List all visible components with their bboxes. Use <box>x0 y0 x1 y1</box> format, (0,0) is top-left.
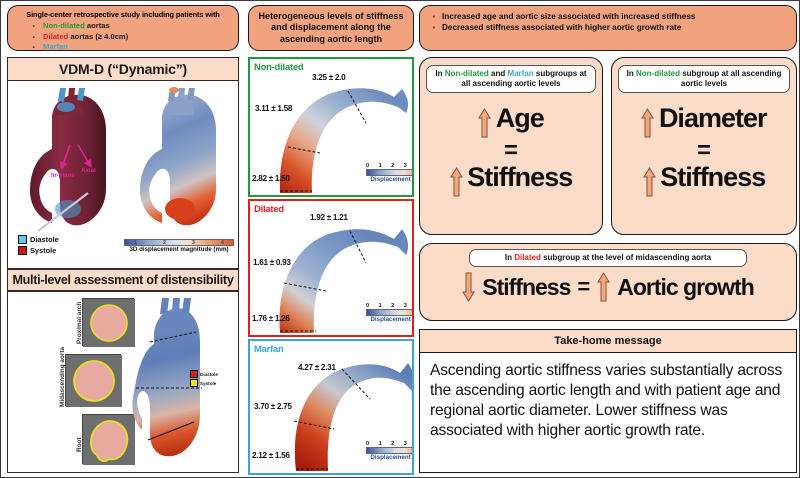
legend-item-diastole: Diastole <box>18 235 59 244</box>
study-description-box: Single-center retrospective study includ… <box>7 5 239 51</box>
relation-diameter-bottom-word: Stiffness <box>660 162 765 192</box>
colorbar-gradient-marfan <box>366 447 414 454</box>
cap-grow-pre: In <box>505 253 514 262</box>
tick-d-1: 1 <box>379 303 382 309</box>
study-group-nondilated: Non-dilated aortas <box>43 21 233 32</box>
relation-caption-age: In Non-dilated and Marfan subgroups at a… <box>426 65 596 93</box>
relation-age-bottom-row: Stiffness <box>420 162 602 197</box>
arrow-up-icon-age-top <box>478 108 491 138</box>
cap-grow-group-a: Dilated <box>514 253 541 262</box>
study-group-list: Non-dilated aortas Dilated aortas (≥ 4.0… <box>43 21 233 53</box>
vdm-d-panel: VDM-D (“Dynamic”) In-plane Axial <box>7 57 239 269</box>
cap-dia-pre: In <box>627 69 636 78</box>
study-group-dilated: Dilated aortas (≥ 4.0cm) <box>43 32 233 43</box>
measurement-dilated-0: 1.92 ± 1.21 <box>310 213 348 222</box>
legend-item-systole-ml: Systole <box>190 379 218 387</box>
legend-item-systole: Systole <box>18 246 59 255</box>
arrow-annotations <box>48 143 108 173</box>
vdm-colorbar: 1 2 3 4 3D displacement magnitude (mm) <box>124 239 234 253</box>
colorbar-gradient-dilated <box>366 309 414 316</box>
group-label-marfan: Marfan <box>43 42 68 51</box>
group-label-nondilated: Non-dilated <box>43 21 85 30</box>
middle-column-header: Heterogeneous levels of stiffness and di… <box>248 5 414 51</box>
relation-caption-growth: In Dilated subgroup at the level of mida… <box>469 249 747 267</box>
group-rest-nondilated: aortas <box>85 21 110 30</box>
panel-marfan: Marfan 4.27 ± 2.31 3.70 ± 2.75 2.12 ± 1.… <box>248 339 414 475</box>
arrow-up-icon-diameter-bottom <box>643 167 656 197</box>
arrow-down-icon-growth-left <box>462 272 475 302</box>
measurement-dilated-1: 1.61 ± 0.93 <box>253 258 291 267</box>
ct-root <box>82 414 134 464</box>
colorbar-marfan: 0 1 2 3 4 5 Displacement (mm) <box>366 441 414 461</box>
measurement-nondilated-0: 3.25 ± 2.0 <box>312 73 345 82</box>
panel-title-dilated: Dilated <box>254 203 284 214</box>
level-label-root: Root <box>76 437 83 452</box>
panel-title-marfan: Marfan <box>254 343 284 354</box>
measurement-nondilated-1: 3.11 ± 1.58 <box>255 104 292 113</box>
measurement-nondilated-2: 2.82 ± 1.50 <box>252 174 290 183</box>
tick-d-3: 3 <box>404 303 407 309</box>
cap-age-mid: and <box>489 69 508 78</box>
relation-diameter-top-word: Diameter <box>659 103 767 133</box>
panel-dilated: Dilated 1.92 ± 1.21 1.61 ± 0.93 1.76 ± 1… <box>248 199 414 337</box>
tick-n-0: 0 <box>366 163 369 169</box>
cap-age-pre: In <box>435 69 444 78</box>
relation-growth-right-word: Aortic growth <box>617 274 754 301</box>
relation-growth-row: Stiffness = Aortic growth <box>420 272 796 302</box>
colorbar-caption-nondilated: Displacement (mm) <box>366 176 414 183</box>
arrow-up-icon-growth-right <box>597 272 610 302</box>
relation-box-diameter: In Non-dilated subgroup at all ascending… <box>611 57 797 235</box>
cap-age-group-b: Marfan <box>507 69 533 78</box>
swatch-systole-icon <box>18 246 27 255</box>
diastole-systole-legend: Diastole Systole <box>18 235 59 257</box>
take-home-header: Take-home message <box>420 330 796 353</box>
level-label-proximal-arch: Proximal arch <box>76 302 83 344</box>
cap-dia-post: subgroup at all ascending aortic levels <box>680 69 781 88</box>
take-home-body: Ascending aortic stiffness varies substa… <box>420 353 796 449</box>
cap-age-group-a: Non-dilated <box>445 69 489 78</box>
poster-figure: Single-center retrospective study includ… <box>0 0 800 478</box>
panel-title-nondilated: Non-dilated <box>254 61 303 72</box>
relation-growth-left-word: Stiffness <box>482 274 570 301</box>
colorbar-nondilated: 0 1 2 3 4 5 Displacement (mm) <box>366 163 414 183</box>
vdm-d-body: In-plane Axial <box>8 81 238 269</box>
colorbar-gradient-nondilated <box>366 169 414 176</box>
measurement-dilated-2: 1.76 ± 1.26 <box>252 314 290 323</box>
tick-m-2: 2 <box>391 441 394 447</box>
vdm-d-header: VDM-D (“Dynamic”) <box>8 58 238 81</box>
vdm-colorbar-caption: 3D displacement magnitude (mm) <box>124 246 234 253</box>
colorbar-caption-dilated: Displacement (mm) <box>366 316 414 323</box>
tick-n-1: 1 <box>379 163 382 169</box>
study-title: Single-center retrospective study includ… <box>13 10 233 19</box>
relation-diameter-top-row: Diameter <box>612 103 796 138</box>
cap-grow-post: subgroup at the level of midascending ao… <box>541 253 711 262</box>
swatch-systole-ml-icon <box>190 379 198 387</box>
relation-age-top-row: Age <box>420 103 602 138</box>
tick-d-2: 2 <box>391 303 394 309</box>
take-home-box: Take-home message Ascending aortic stiff… <box>419 329 797 473</box>
tick-m-0: 0 <box>366 441 369 447</box>
finding-0: Increased age and aortic size associated… <box>442 11 790 22</box>
panel-nondilated: Non-dilated 3.25 ± 2.0 3.11 ± 1.58 2.82 … <box>248 57 414 197</box>
relation-age-bottom-word: Stiffness <box>467 162 572 192</box>
relation-diameter-equals: = <box>612 142 796 160</box>
multilevel-legend: Diastole Systole <box>190 370 218 389</box>
tick-n-2: 2 <box>391 163 394 169</box>
tick-m-3: 3 <box>404 441 407 447</box>
legend-label-diastole-ml: Diastole <box>200 372 218 377</box>
relation-box-growth: In Dilated subgroup at the level of mida… <box>419 243 797 321</box>
tick-m-1: 1 <box>379 441 382 447</box>
legend-label-diastole: Diastole <box>30 235 59 244</box>
key-findings-list: Increased age and aortic size associated… <box>442 11 790 33</box>
ct-midascending-aorta <box>65 354 121 406</box>
multilevel-panel: Proximal arch Midascending aorta Root <box>7 291 239 473</box>
study-group-marfan: Marfan <box>43 42 233 53</box>
measurement-marfan-0: 4.27 ± 2.31 <box>298 363 336 372</box>
swatch-diastole-icon <box>18 235 27 244</box>
ct-proximal-arch <box>82 298 134 346</box>
group-label-dilated: Dilated <box>43 32 68 41</box>
key-findings-box: Increased age and aortic size associated… <box>419 5 797 51</box>
cap-dia-group-a: Non-dilated <box>636 69 680 78</box>
legend-label-systole: Systole <box>30 246 56 255</box>
arrow-up-icon-diameter-top <box>641 108 654 138</box>
aorta-displacement-model <box>134 85 234 235</box>
relation-growth-equals: = <box>577 278 590 296</box>
legend-item-diastole-ml: Diastole <box>190 370 218 378</box>
finding-1: Decreased stiffness associated with high… <box>442 22 790 33</box>
relation-box-age: In Non-dilated and Marfan subgroups at a… <box>419 57 603 235</box>
legend-label-systole-ml: Systole <box>200 381 216 386</box>
colorbar-caption-marfan: Displacement (mm) <box>366 454 414 461</box>
measurement-marfan-1: 3.70 ± 2.75 <box>254 402 292 411</box>
relation-caption-diameter: In Non-dilated subgroup at all ascending… <box>618 65 790 93</box>
relation-age-top-word: Age <box>496 103 544 133</box>
tick-d-0: 0 <box>366 303 369 309</box>
swatch-diastole-ml-icon <box>190 370 198 378</box>
inplane-label: In-plane <box>51 172 75 179</box>
colorbar-dilated: 0 1 2 3 4 5 Displacement (mm) <box>366 303 414 323</box>
measurement-marfan-2: 2.12 ± 1.56 <box>252 451 290 460</box>
arrow-up-icon-age-bottom <box>450 167 463 197</box>
relation-age-equals: = <box>420 142 602 160</box>
relation-diameter-bottom-row: Stiffness <box>612 162 796 197</box>
tick-n-3: 3 <box>404 163 407 169</box>
multilevel-header: Multi-level assessment of distensibility <box>7 269 239 291</box>
level-label-midascending: Midascending aorta <box>59 347 66 407</box>
group-rest-dilated: aortas (≥ 4.0cm) <box>68 32 128 41</box>
